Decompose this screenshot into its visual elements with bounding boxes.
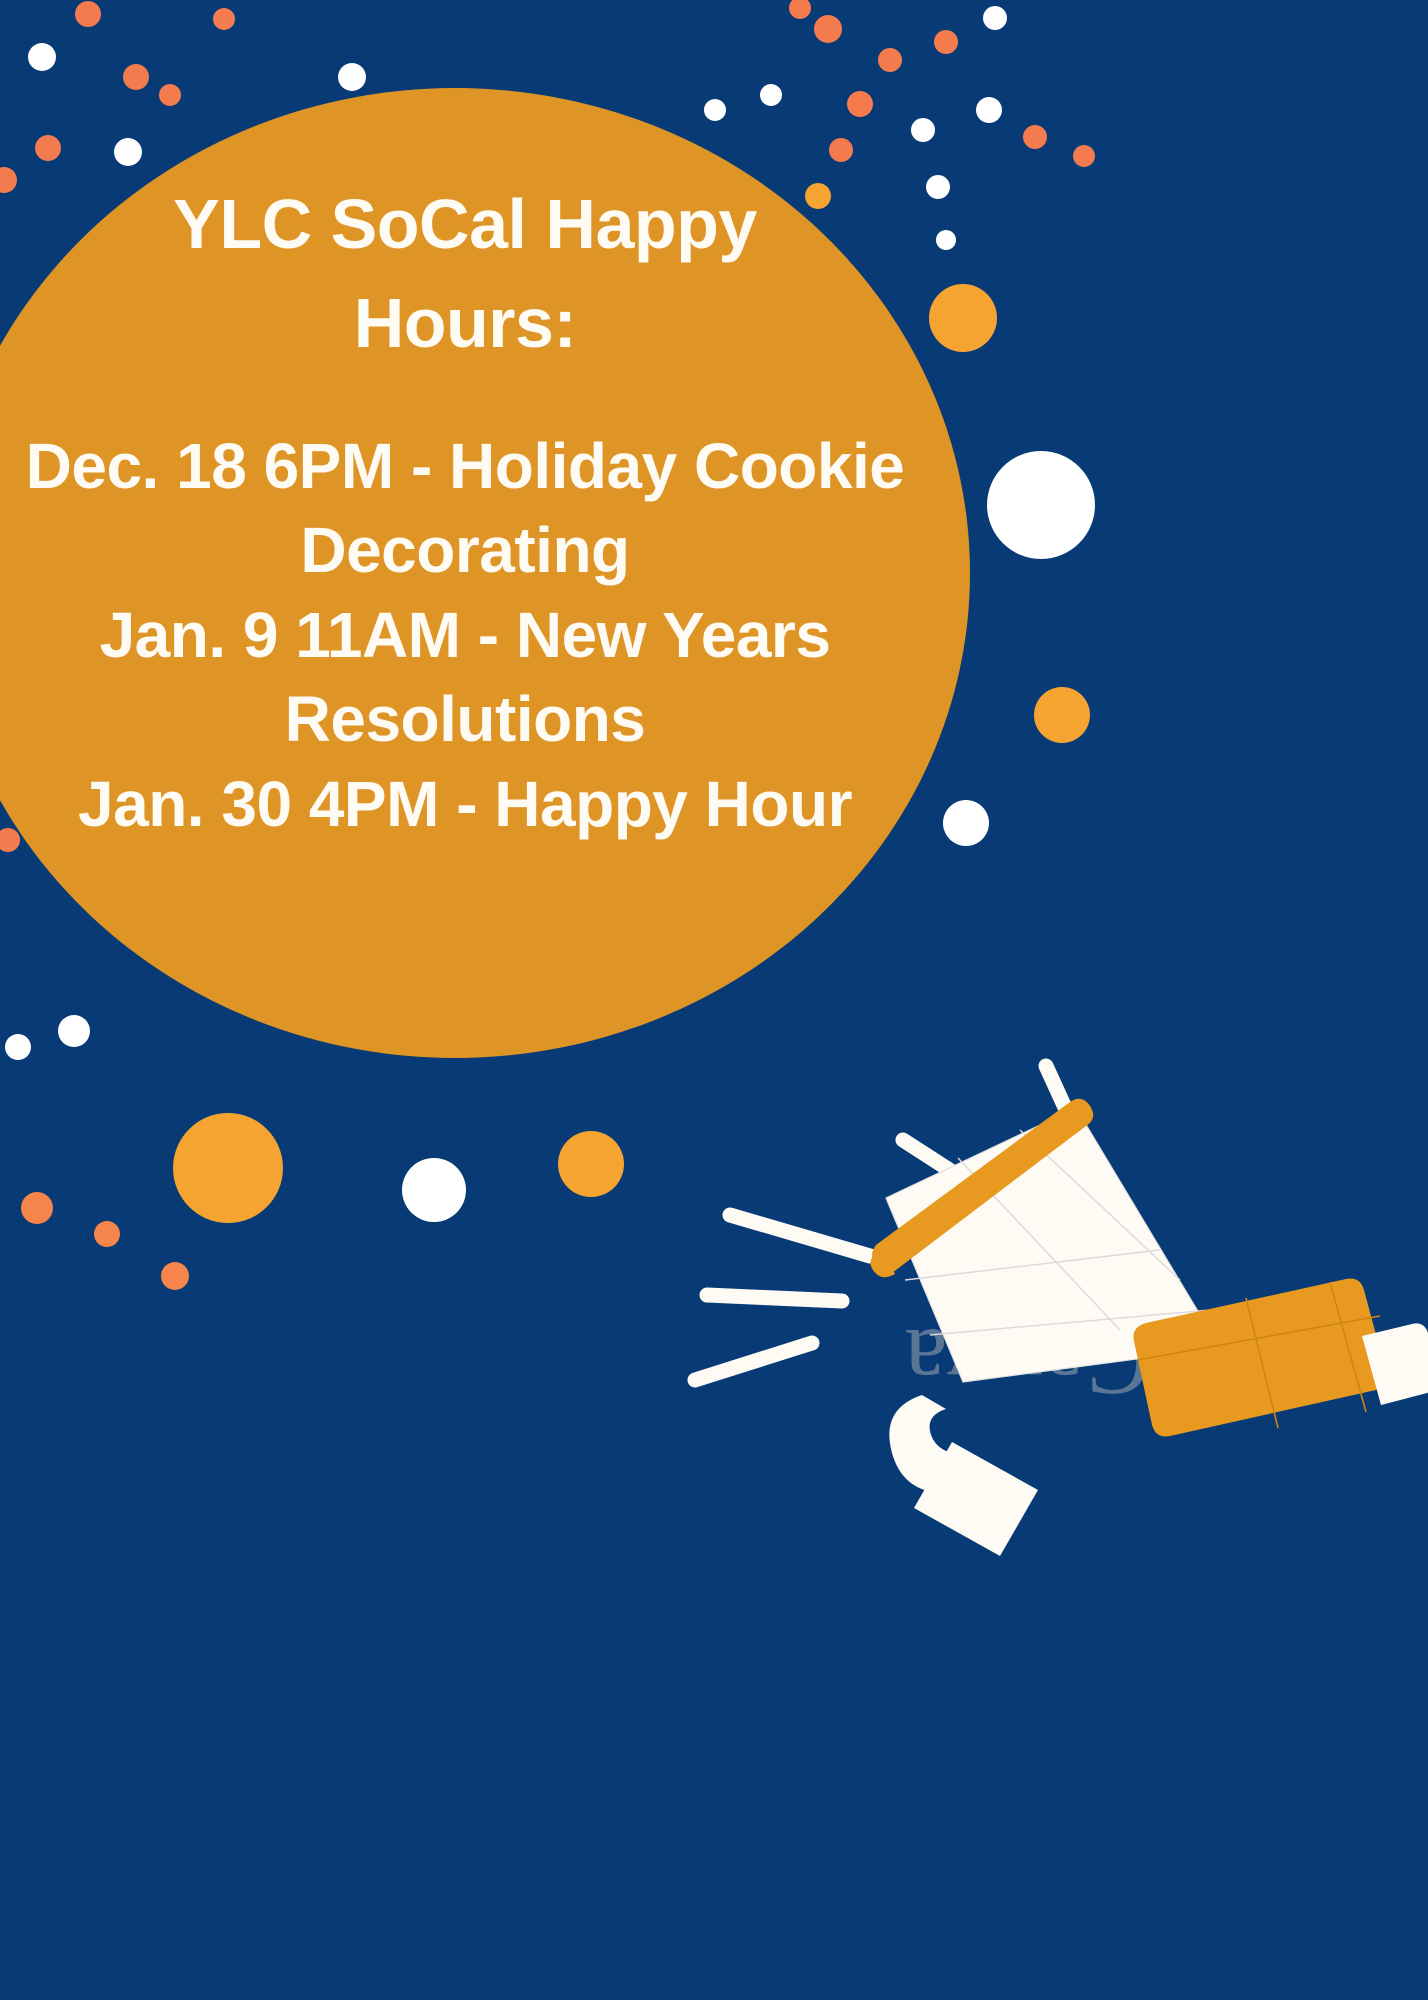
confetti-dot [983, 6, 1007, 30]
confetti-dot [1034, 687, 1090, 743]
megaphone-handle [889, 1395, 1038, 1556]
confetti-dot [28, 43, 56, 71]
confetti-dot [911, 118, 935, 142]
confetti-dot [704, 99, 726, 121]
confetti-dot [814, 15, 842, 43]
confetti-dot [58, 1015, 90, 1047]
confetti-dot [936, 230, 956, 250]
confetti-dot [1023, 125, 1047, 149]
confetti-dot [213, 8, 235, 30]
confetti-dot [976, 97, 1002, 123]
confetti-dot [847, 91, 873, 117]
page-title: YLC SoCal Happy Hours: [0, 175, 930, 374]
confetti-dot [94, 1221, 120, 1247]
confetti-dot [123, 64, 149, 90]
poster-canvas: YLC SoCal Happy Hours: Dec. 18 6PM - Hol… [0, 0, 1428, 2000]
confetti-dot [934, 30, 958, 54]
poster-text-block: YLC SoCal Happy Hours: Dec. 18 6PM - Hol… [0, 175, 930, 846]
confetti-dot [760, 84, 782, 106]
confetti-dot [159, 84, 181, 106]
list-item: Jan. 30 4PM - Happy Hour [0, 762, 930, 846]
megaphone-rear-cap [1362, 1323, 1428, 1405]
confetti-dot [173, 1113, 283, 1223]
confetti-dot [878, 48, 902, 72]
confetti-dot [929, 284, 997, 352]
megaphone-icon: Canva [690, 1030, 1428, 1590]
confetti-dot [943, 800, 989, 846]
list-item: Jan. 9 11AM - New Years Resolutions [0, 593, 930, 762]
confetti-dot [21, 1192, 53, 1224]
confetti-dot [35, 135, 61, 161]
confetti-dot [1073, 145, 1095, 167]
confetti-dot [987, 451, 1095, 559]
confetti-dot [114, 138, 142, 166]
confetti-dot [829, 138, 853, 162]
confetti-dot [75, 1, 101, 27]
confetti-dot [161, 1262, 189, 1290]
event-schedule-list: Dec. 18 6PM - Holiday Cookie Decorating … [0, 424, 930, 846]
confetti-dot [338, 63, 366, 91]
confetti-dot [5, 1034, 31, 1060]
list-item: Dec. 18 6PM - Holiday Cookie Decorating [0, 424, 930, 593]
megaphone-graphic: Canva [690, 1030, 1428, 1590]
confetti-dot [402, 1158, 466, 1222]
confetti-dot [558, 1131, 624, 1197]
